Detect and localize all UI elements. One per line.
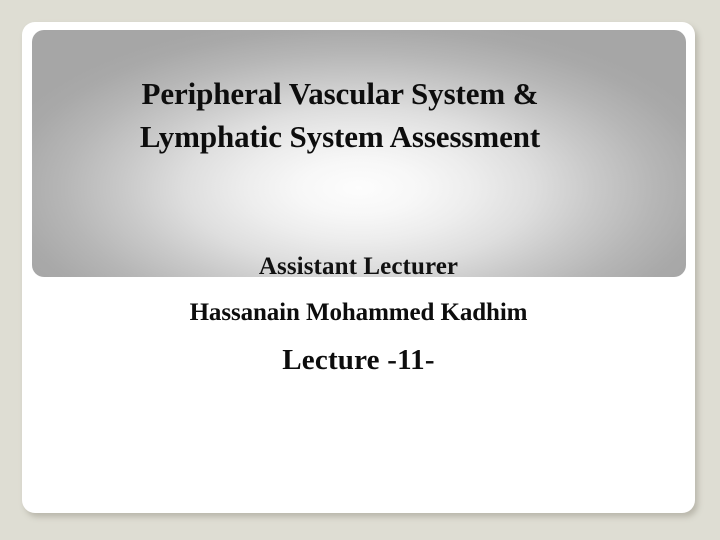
slide-title: Peripheral Vascular System & Lymphatic S… [22,72,658,158]
slide-subtitle-block: Assistant Lecturer Hassanain Mohammed Ka… [22,252,695,377]
slide-title-line-2: Lymphatic System Assessment [22,115,658,158]
slide-card: Peripheral Vascular System & Lymphatic S… [22,22,695,513]
slide-title-line-1: Peripheral Vascular System & [22,72,658,115]
presenter-role: Assistant Lecturer [22,252,695,282]
presenter-name: Hassanain Mohammed Kadhim [22,298,695,328]
slide-text-layer: Peripheral Vascular System & Lymphatic S… [22,22,695,513]
slide-viewport: { "slide": { "title_lines": [ "Periphera… [0,0,720,540]
lecture-number-label: Lecture -11- [22,343,695,377]
